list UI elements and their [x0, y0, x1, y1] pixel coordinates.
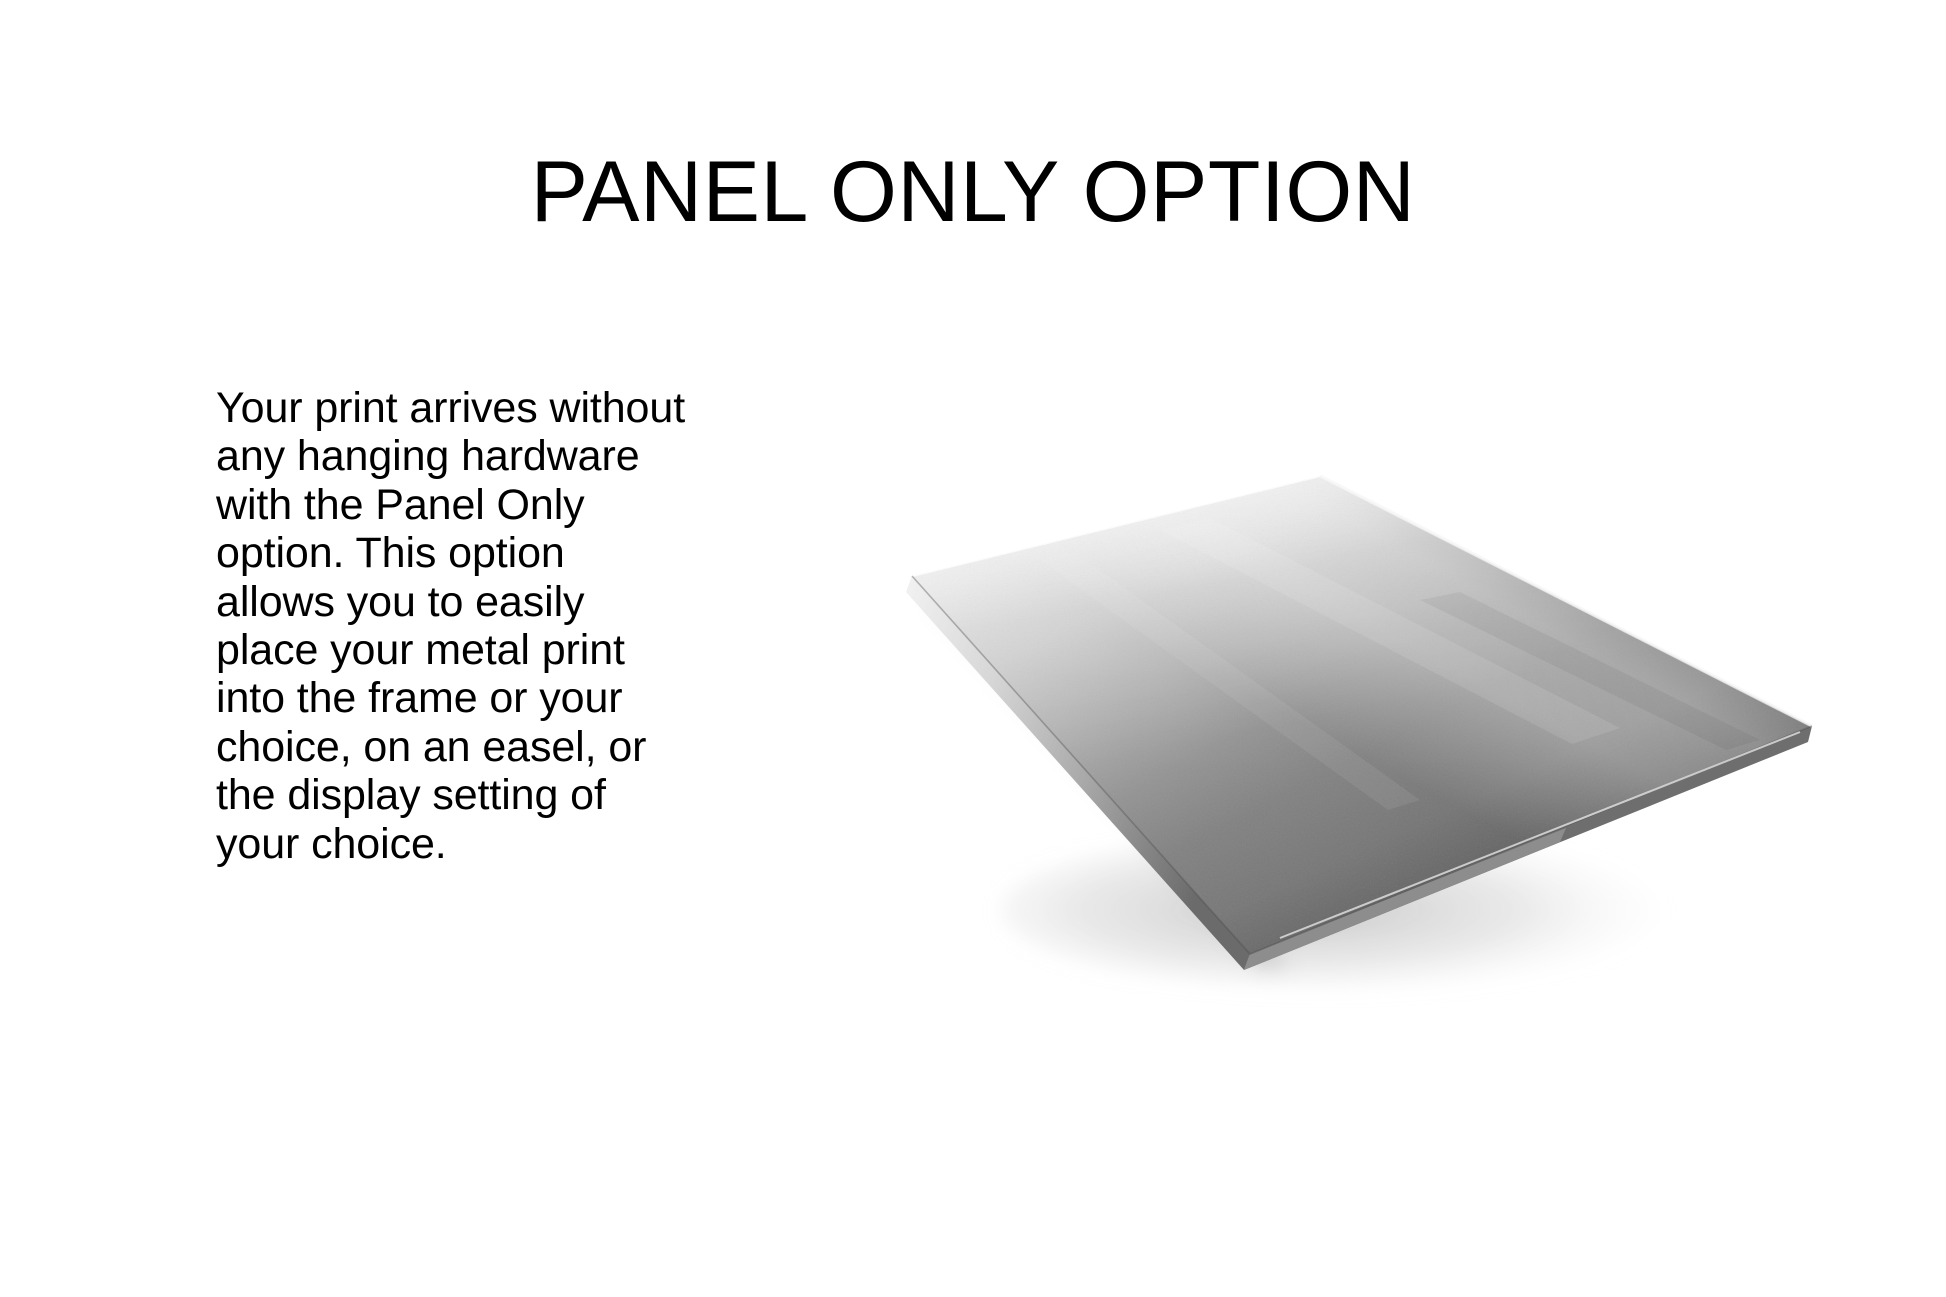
metal-panel-illustration [860, 410, 1870, 1020]
page-title: PANEL ONLY OPTION [0, 144, 1946, 240]
slide-canvas: PANEL ONLY OPTION Your print arrives wit… [0, 0, 1946, 1297]
metal-panel-figure [860, 410, 1870, 1020]
body-paragraph: Your print arrives without any hanging h… [216, 384, 686, 868]
